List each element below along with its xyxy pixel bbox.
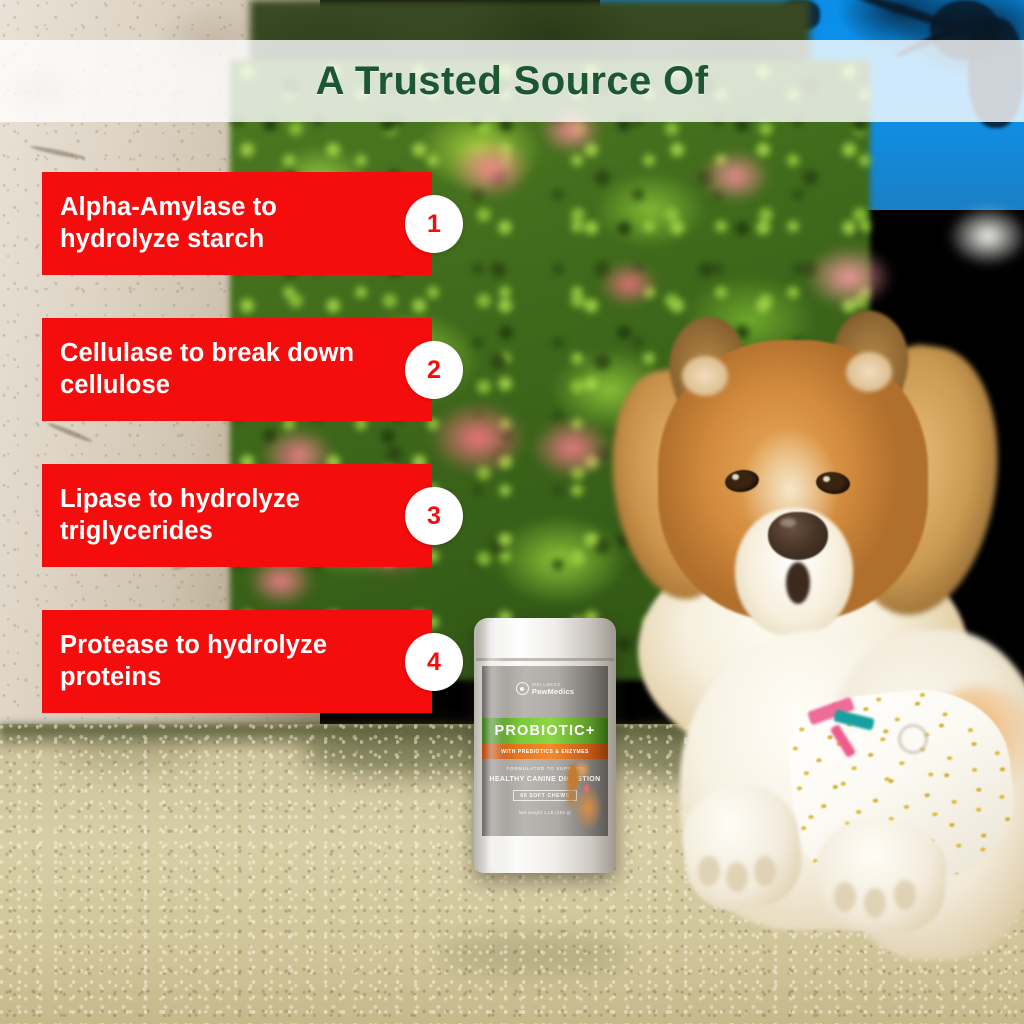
dog-paw-toe bbox=[864, 888, 886, 918]
callout-4-badge: 4 bbox=[405, 633, 463, 691]
blossom bbox=[948, 206, 1024, 266]
callout-2-text: Cellulase to break down cellulose bbox=[42, 338, 432, 400]
callout-4-number: 4 bbox=[427, 648, 441, 677]
jar-label: WELLNESSPawMedics PROBIOTIC+ WITH PREBIO… bbox=[482, 666, 608, 836]
page-title: A Trusted Source Of bbox=[316, 59, 709, 104]
callout-4-text: Protease to hydrolyze proteins bbox=[42, 630, 432, 692]
brand-line1: WELLNESS bbox=[532, 682, 574, 687]
blossom bbox=[532, 418, 612, 478]
jar-lid bbox=[476, 618, 614, 660]
blossom bbox=[806, 246, 892, 308]
paw-logo-icon bbox=[516, 682, 529, 695]
label-dog-illustration bbox=[560, 754, 608, 836]
callout-1-badge: 1 bbox=[405, 195, 463, 253]
callout-2-number: 2 bbox=[427, 356, 441, 385]
dog-paw-toe bbox=[698, 856, 720, 886]
dog-eye-highlight-right bbox=[823, 476, 830, 482]
product-name-band: PROBIOTIC+ bbox=[482, 718, 608, 744]
label-dog-tongue bbox=[584, 784, 589, 793]
bandana-ring-icon bbox=[898, 724, 928, 754]
callout-1-text: Alpha-Amylase to hydrolyze starch bbox=[42, 192, 432, 254]
dog-eye-highlight-left bbox=[732, 474, 739, 480]
product-name: PROBIOTIC+ bbox=[494, 723, 595, 739]
callout-3-badge: 3 bbox=[405, 487, 463, 545]
dog-nose-highlight bbox=[780, 518, 796, 527]
callout-2-badge: 2 bbox=[405, 341, 463, 399]
callout-3[interactable]: Lipase to hydrolyze triglycerides bbox=[42, 464, 432, 567]
dog-nose bbox=[768, 512, 828, 560]
title-banner: A Trusted Source Of bbox=[0, 40, 1024, 122]
brand-line2: PawMedics bbox=[532, 687, 574, 696]
dog-subject bbox=[620, 300, 1024, 940]
dog-ear-tip-right bbox=[846, 352, 892, 392]
dog-paw-toe bbox=[726, 862, 748, 892]
product-container[interactable]: WELLNESSPawMedics PROBIOTIC+ WITH PREBIO… bbox=[474, 618, 616, 873]
callout-3-text: Lipase to hydrolyze triglycerides bbox=[42, 484, 432, 546]
dog-paw-toe bbox=[754, 856, 776, 886]
dog-mouth bbox=[786, 562, 810, 604]
dog-ear-tip-left bbox=[682, 356, 728, 396]
blossom bbox=[430, 402, 526, 474]
callout-2[interactable]: Cellulase to break down cellulose bbox=[42, 318, 432, 421]
blossom bbox=[700, 150, 770, 202]
callout-3-number: 3 bbox=[427, 502, 441, 531]
callout-1-number: 1 bbox=[427, 210, 441, 239]
label-dog-ear bbox=[567, 764, 579, 790]
marketing-image: WELLNESSPawMedics PROBIOTIC+ WITH PREBIO… bbox=[0, 0, 1024, 1024]
jar-lid-seam bbox=[476, 658, 614, 661]
dog-paw-toe bbox=[894, 880, 916, 910]
blossom bbox=[452, 140, 530, 198]
brand-lockup: WELLNESSPawMedics bbox=[482, 680, 608, 698]
callout-4[interactable]: Protease to hydrolyze proteins bbox=[42, 610, 432, 713]
callout-1[interactable]: Alpha-Amylase to hydrolyze starch bbox=[42, 172, 432, 275]
dog-paw-toe bbox=[834, 882, 856, 912]
